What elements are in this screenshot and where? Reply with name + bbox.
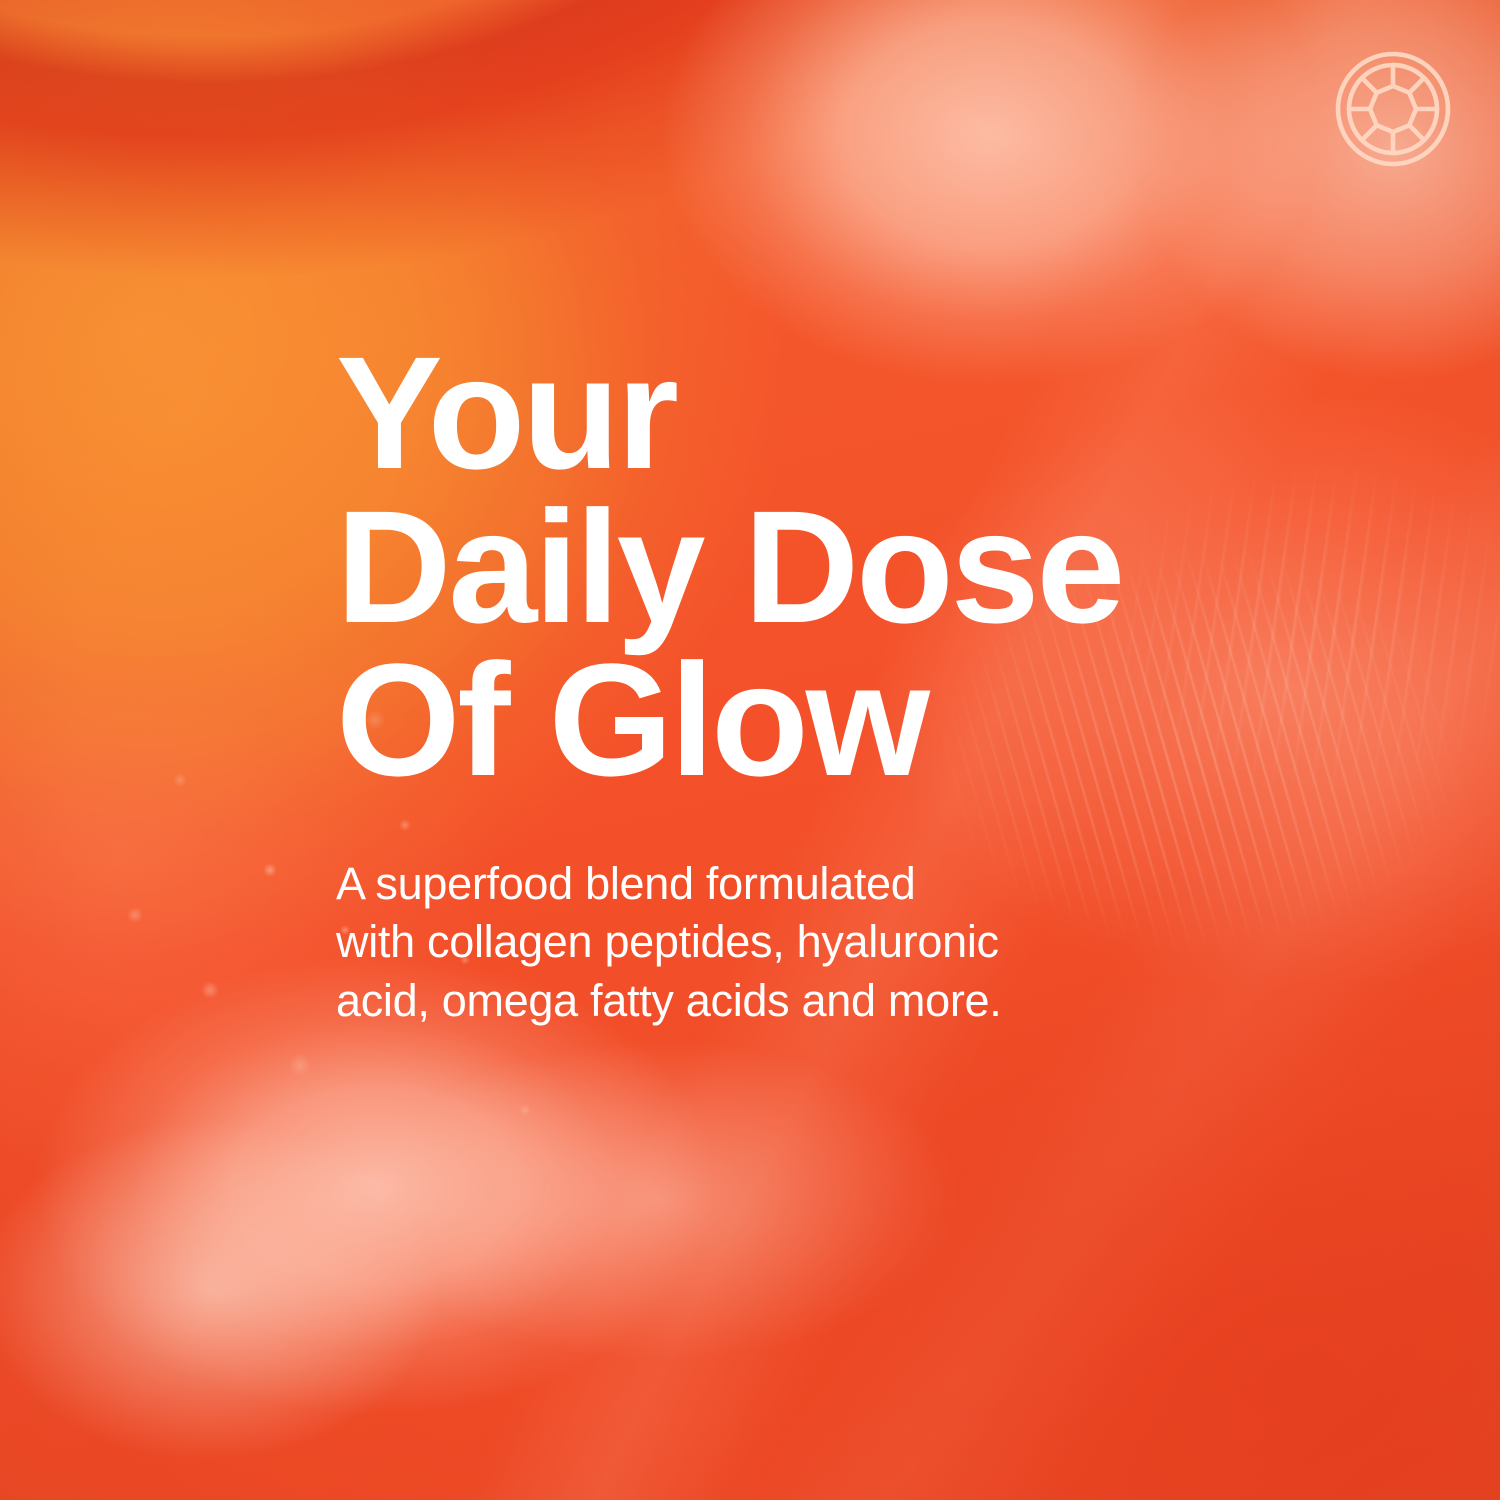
headline: Your Daily Dose Of Glow bbox=[336, 336, 1216, 797]
copy-block: Your Daily Dose Of Glow A superfood blen… bbox=[336, 336, 1216, 1030]
brand-logo[interactable] bbox=[1334, 50, 1452, 168]
ad-canvas: Your Daily Dose Of Glow A superfood blen… bbox=[0, 0, 1500, 1500]
subheadline: A superfood blend formulated with collag… bbox=[336, 797, 1216, 1031]
citrus-wheel-icon bbox=[1334, 50, 1452, 168]
